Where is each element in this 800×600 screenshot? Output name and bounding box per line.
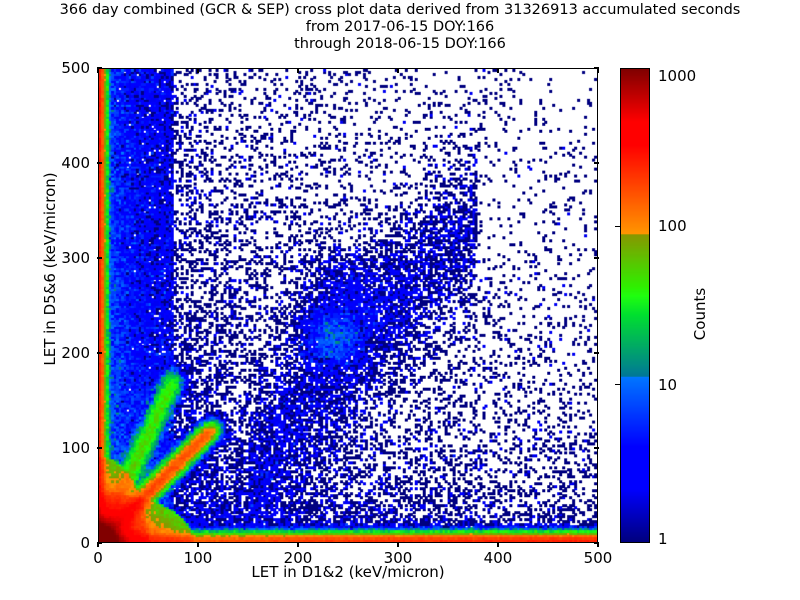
x-tick-400 <box>497 542 498 547</box>
x-tick-100 <box>197 542 198 547</box>
scatter-density-plot <box>99 69 597 542</box>
y-tick-right-200 <box>594 352 599 353</box>
title-line-2: from 2017-06-15 DOY:166 <box>0 19 800 36</box>
x-tick-200 <box>297 542 298 547</box>
colorbar <box>620 68 650 543</box>
y-tick-200 <box>97 352 102 353</box>
y-tick-right-100 <box>594 447 599 448</box>
x-tick-top-400 <box>497 68 498 73</box>
x-axis-label: LET in D1&2 (keV/micron) <box>0 563 696 581</box>
y-tick-right-500 <box>594 67 599 68</box>
title-line-1: 366 day combined (GCR & SEP) cross plot … <box>0 2 800 19</box>
x-tick-top-500 <box>597 68 598 73</box>
colorbar-tick-label-1000: 1000 <box>658 67 696 85</box>
x-tick-300 <box>397 542 398 547</box>
plot-area[interactable] <box>98 68 598 543</box>
colorbar-container[interactable]: 1101001000 <box>620 68 650 543</box>
y-tick-500 <box>97 67 102 68</box>
title-line-3: through 2018-06-15 DOY:166 <box>0 36 800 53</box>
figure-canvas: 366 day combined (GCR & SEP) cross plot … <box>0 0 800 600</box>
colorbar-tick-label-100: 100 <box>658 217 687 235</box>
y-tick-0 <box>97 542 102 543</box>
colorbar-label: Counts <box>691 214 709 414</box>
colorbar-gradient <box>621 69 649 542</box>
y-tick-right-300 <box>594 257 599 258</box>
x-tick-top-100 <box>197 68 198 73</box>
y-tick-300 <box>97 257 102 258</box>
y-tick-100 <box>97 447 102 448</box>
y-tick-label-0: 0 <box>38 534 90 552</box>
x-tick-top-0 <box>97 68 98 73</box>
x-tick-top-300 <box>397 68 398 73</box>
y-tick-400 <box>97 162 102 163</box>
x-tick-top-200 <box>297 68 298 73</box>
y-tick-right-0 <box>594 542 599 543</box>
colorbar-tick-label-10: 10 <box>658 376 677 394</box>
colorbar-tick-10 <box>615 384 620 385</box>
figure-title: 366 day combined (GCR & SEP) cross plot … <box>0 2 800 53</box>
y-axis-label: LET in D5&6 (keV/micron) <box>41 69 59 469</box>
colorbar-tick-label-1: 1 <box>658 530 668 548</box>
colorbar-tick-100 <box>615 226 620 227</box>
y-tick-right-400 <box>594 162 599 163</box>
